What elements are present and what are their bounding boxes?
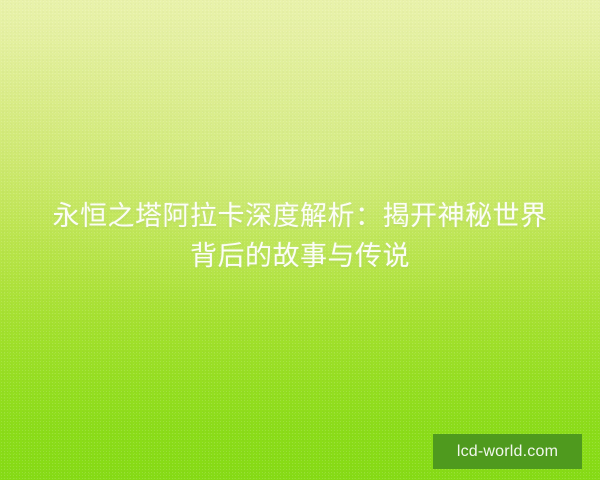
promo-banner: 永恒之塔阿拉卡深度解析：揭开神秘世界 背后的故事与传说 lcd-world.co… — [0, 0, 600, 480]
banner-title-line-2: 背后的故事与传说 — [24, 236, 576, 276]
banner-title-line-1: 永恒之塔阿拉卡深度解析：揭开神秘世界 — [24, 196, 576, 236]
watermark-badge: lcd-world.com — [433, 434, 582, 469]
banner-title: 永恒之塔阿拉卡深度解析：揭开神秘世界 背后的故事与传说 — [0, 196, 600, 276]
watermark-label: lcd-world.com — [457, 444, 558, 460]
